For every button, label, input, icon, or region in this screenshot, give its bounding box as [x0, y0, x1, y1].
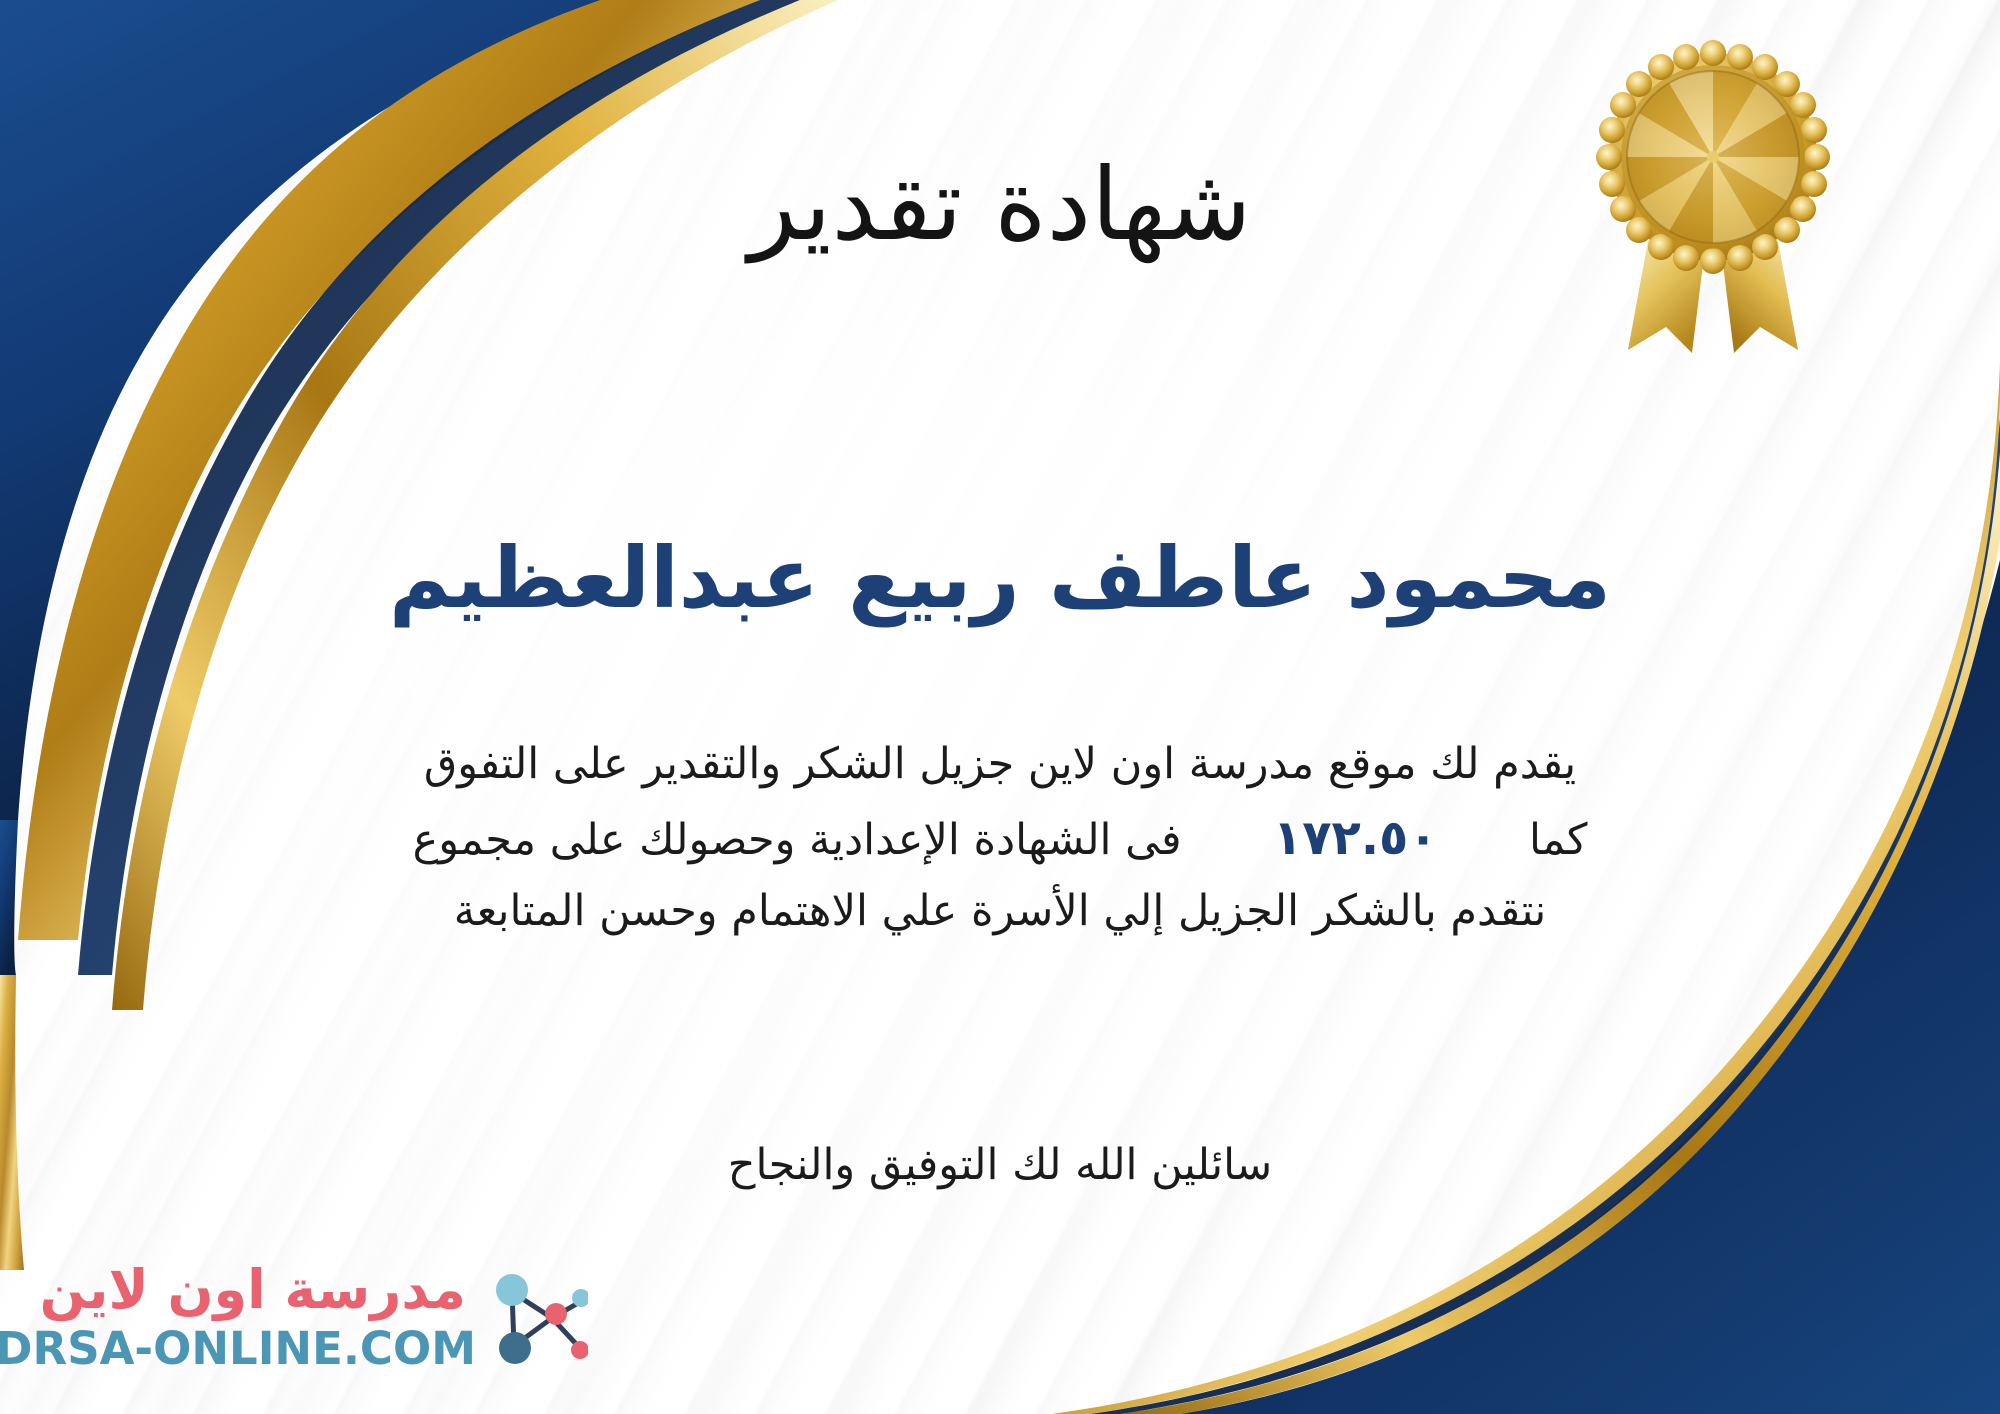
certificate-content: شهادة تقدير محمود عاطف ربيع عبدالعظيم يق… [0, 0, 2000, 1414]
body-line-1: يقدم لك موقع مدرسة اون لاين جزيل الشكر و… [60, 730, 1940, 800]
certificate-canvas: شهادة تقدير محمود عاطف ربيع عبدالعظيم يق… [0, 0, 2000, 1414]
body-line-3: نتقدم بالشكر الجزيل إلي الأسرة علي الاهت… [60, 877, 1940, 947]
logo-website-text: MADRSA-ONLINE.COM [0, 1322, 476, 1375]
logo-arabic-text: مدرسة اون لاين [40, 1258, 466, 1321]
body-line-2-prefix: فى الشهادة الإعدادية وحصولك على مجموع [413, 815, 1182, 865]
score-value: ١٧٢.٥٠ [1255, 810, 1456, 866]
network-nodes-icon [482, 1262, 588, 1372]
site-logo[interactable]: مدرسة اون لاين MADRSA-ONLINE.COM [28, 1256, 588, 1396]
body-line-2-suffix: كما [1529, 815, 1587, 865]
closing-wish: سائلين الله لك التوفيق والنجاح [0, 1140, 2000, 1190]
certificate-body: يقدم لك موقع مدرسة اون لاين جزيل الشكر و… [60, 730, 1940, 947]
certificate-title: شهادة تقدير [0, 150, 2000, 260]
recipient-name: محمود عاطف ربيع عبدالعظيم [0, 530, 2000, 627]
body-line-2: كما ١٧٢.٥٠ فى الشهادة الإعدادية وحصولك ع… [60, 800, 1940, 878]
